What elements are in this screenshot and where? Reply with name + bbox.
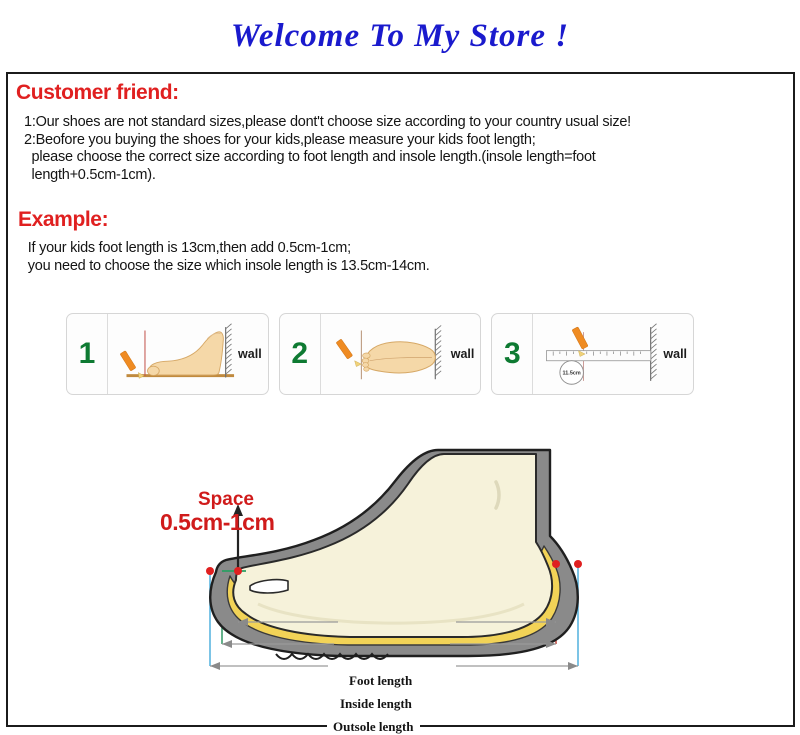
step-1-wall-label: wall — [238, 347, 262, 361]
step-box-3: 3 — [491, 313, 694, 395]
space-label-word: Space — [198, 490, 254, 510]
step-box-2: 2 — [279, 313, 482, 395]
step-2-number: 2 — [291, 339, 308, 369]
example-heading: Example: — [18, 208, 108, 232]
foot-length-label: Foot length — [343, 673, 418, 689]
space-label-value: 0.5cm-1cm — [160, 510, 274, 534]
step-3-wall-label: wall — [663, 347, 687, 361]
example-instructions: If your kids foot length is 13cm,then ad… — [24, 240, 430, 275]
shoe-cross-section-diagram: Space 0.5cm-1cm Foot length Inside lengt… — [138, 404, 658, 704]
step-3-magnifier-value: 11.5cm — [563, 371, 581, 377]
customer-friend-heading: Customer friend: — [16, 81, 179, 105]
step-3-number-cell: 3 — [492, 314, 533, 394]
intro-instructions: 1:Our shoes are not standard sizes,pleas… — [24, 114, 631, 184]
info-panel: Customer friend: 1:Our shoes are not sta… — [6, 72, 795, 727]
outsole-length-rule — [210, 662, 578, 670]
foot-shape — [233, 454, 552, 637]
inside-length-label: Inside length — [334, 696, 418, 712]
outsole-length-label: Outsole length — [327, 719, 420, 735]
step-2-number-cell: 2 — [280, 314, 321, 394]
step-2-wall-label: wall — [451, 347, 475, 361]
measuring-steps-row: 1 — [66, 313, 694, 395]
step-3-illustration: 11.5cm wall — [533, 314, 693, 394]
step-box-1: 1 — [66, 313, 269, 395]
step-1-number: 1 — [79, 339, 96, 369]
step-1-number-cell: 1 — [67, 314, 108, 394]
page-title: Welcome To My Store ! — [0, 18, 800, 55]
step-3-number: 3 — [504, 339, 521, 369]
step-1-illustration: wall — [108, 314, 268, 394]
step-2-illustration: wall — [321, 314, 481, 394]
